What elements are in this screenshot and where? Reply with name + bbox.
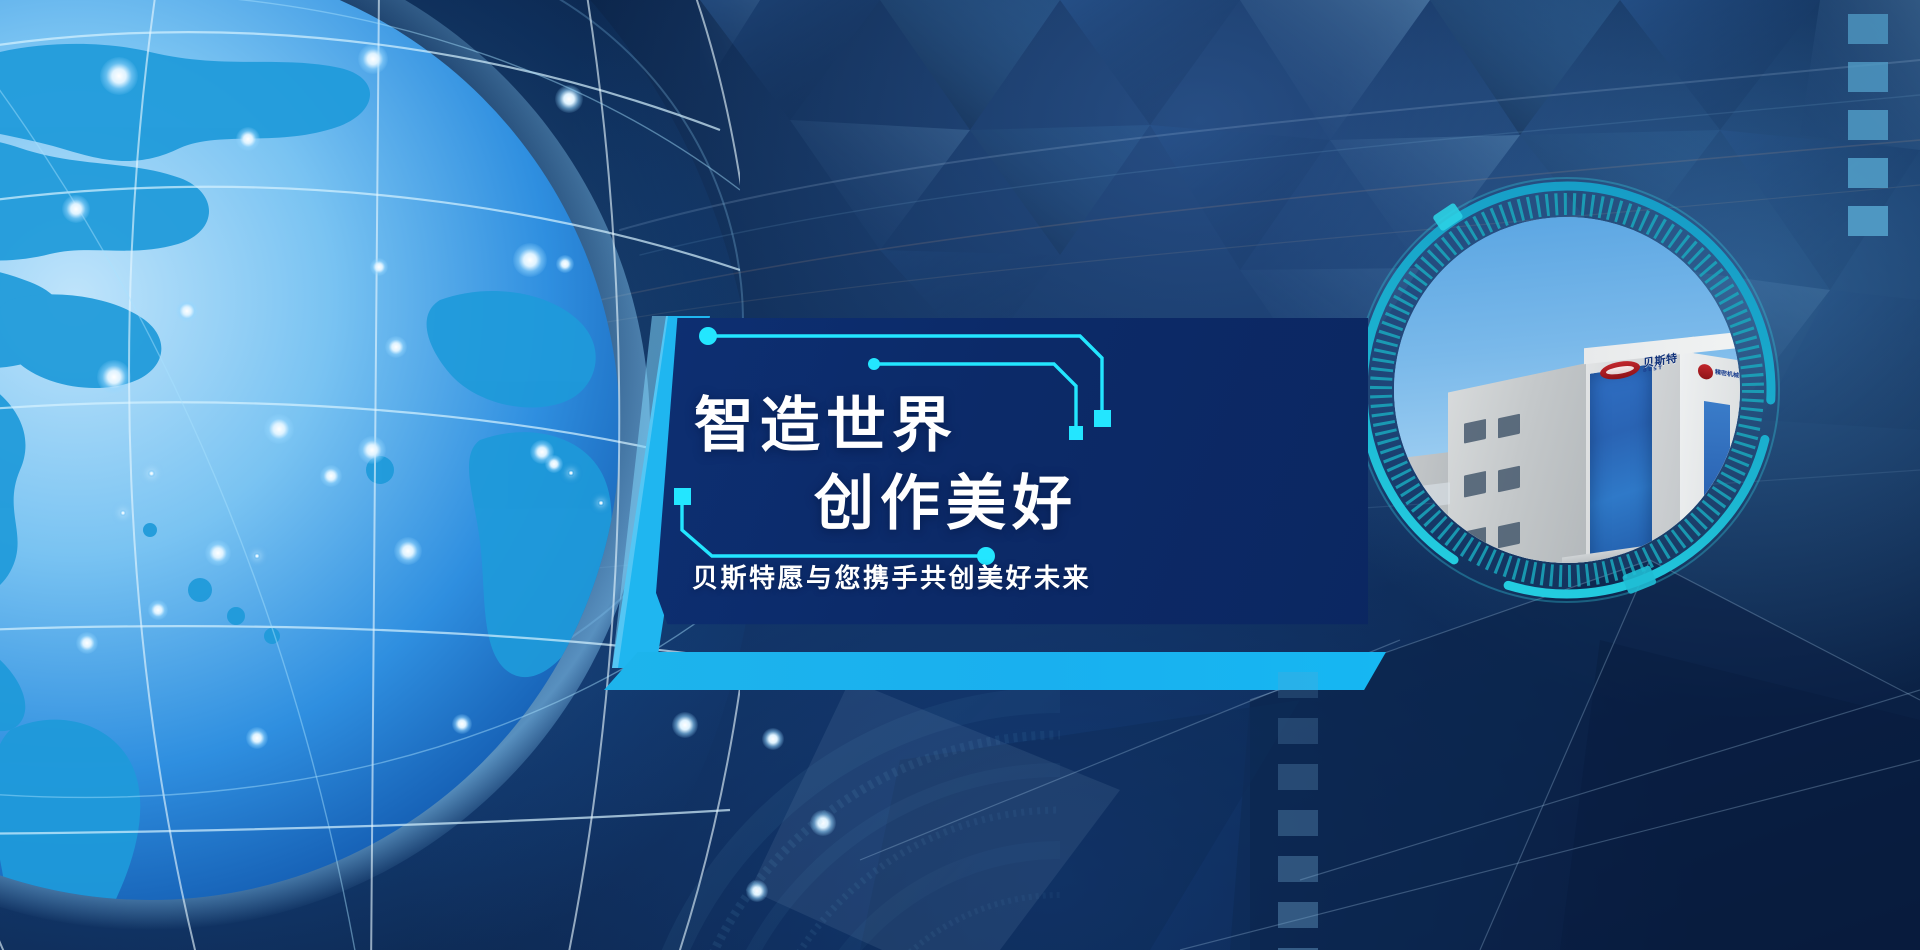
step-bar (1848, 62, 1888, 92)
step-bar (1848, 110, 1888, 140)
banner-root: 贝斯特 BEST 精密机械 (0, 0, 1920, 950)
step-bar (1278, 764, 1318, 790)
photo-ring-module: 贝斯特 BEST 精密机械 (1352, 175, 1782, 605)
step-bar (1278, 718, 1318, 744)
headquarters-photo: 贝斯特 BEST 精密机械 (1394, 217, 1740, 563)
step-bars-mid-bottom (1278, 672, 1318, 950)
building-glass-curtain (1590, 364, 1652, 563)
headline-card: 智造世界 创作美好 贝斯特愿与您携手共创美好未来 (656, 318, 1368, 666)
step-bar (1278, 856, 1318, 882)
step-bar (1278, 672, 1318, 698)
signage-logo-mark (1600, 358, 1640, 381)
step-bar (1848, 14, 1888, 44)
step-bars-top-right (1848, 14, 1888, 254)
step-bar (1848, 206, 1888, 236)
step-bar (1278, 810, 1318, 836)
signage-secondary-mark (1698, 363, 1713, 380)
signage-secondary-text: 精密机械 (1715, 369, 1739, 379)
card-plate (656, 318, 1368, 666)
step-bar (1278, 902, 1318, 928)
building-main-face (1448, 361, 1594, 563)
step-bar (1848, 158, 1888, 188)
